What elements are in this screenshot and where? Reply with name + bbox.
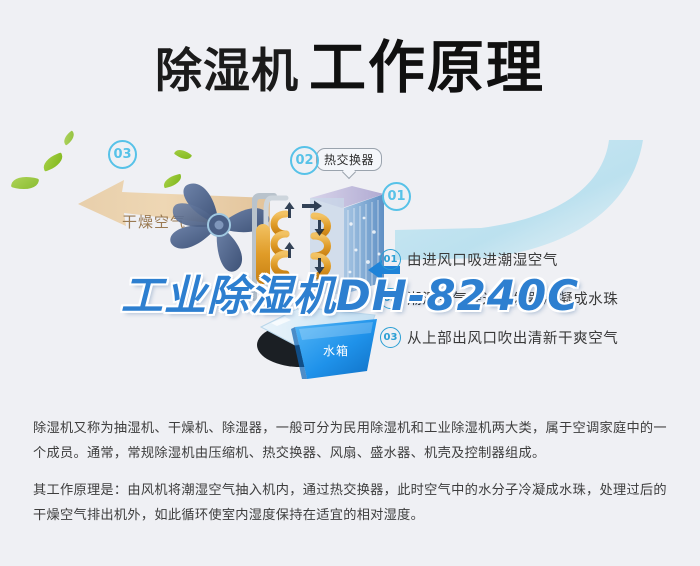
leaf-icon — [61, 130, 77, 145]
water-tank-label: 水箱 — [323, 342, 349, 359]
list-item: 01 由进风口吸进潮湿空气 — [380, 248, 680, 270]
leaf-icon — [174, 146, 192, 163]
water-tank-graphic — [255, 293, 385, 383]
description-paragraph-2: 其工作原理是：由风机将潮湿空气抽入机内，通过热交换器，此时空气中的水分子冷凝成水… — [33, 478, 673, 528]
heat-exchanger-callout: 热交换器 — [316, 148, 382, 171]
description-block: 除湿机又称为抽湿机、干燥机、除湿器，一般可分为民用除湿机和工业除湿机两大类，属于… — [33, 416, 673, 540]
list-item: 02 潮湿空气经过蒸发器冷凝成水珠 — [380, 287, 680, 309]
page-title: 除湿机工作原理 — [0, 22, 700, 104]
leaf-icon — [41, 152, 66, 171]
leaf-icon — [11, 173, 39, 192]
page-title-part2: 工作原理 — [309, 35, 545, 101]
step-badge-03: 03 — [380, 327, 401, 348]
list-item: 03 从上部出风口吹出清新干爽空气 — [380, 326, 680, 348]
diagram-badge-01: 01 — [382, 182, 411, 211]
description-paragraph-1: 除湿机又称为抽湿机、干燥机、除湿器，一般可分为民用除湿机和工业除湿机两大类，属于… — [33, 416, 673, 466]
dehumidifier-principle-infographic: 除湿机工作原理 — [0, 0, 700, 566]
diagram-badge-03: 03 — [108, 140, 137, 169]
step-badge-02: 02 — [380, 288, 401, 309]
step-badge-01: 01 — [380, 249, 401, 270]
step-text-03: 从上部出风口吹出清新干爽空气 — [407, 327, 618, 348]
page-title-part1: 除湿机 — [155, 44, 299, 99]
step-text-01: 由进风口吸进潮湿空气 — [407, 249, 558, 270]
steps-list: 01 由进风口吸进潮湿空气 02 潮湿空气经过蒸发器冷凝成水珠 03 从上部出风… — [380, 248, 680, 365]
diagram-badge-02: 02 — [290, 146, 319, 175]
step-text-02: 潮湿空气经过蒸发器冷凝成水珠 — [407, 288, 618, 309]
